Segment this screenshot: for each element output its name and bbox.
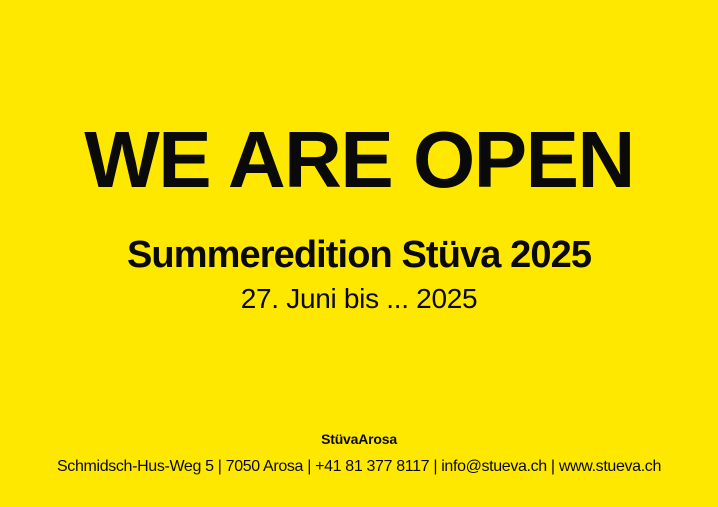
brand-name: StüvaArosa (0, 430, 718, 448)
contact-line: Schmidsch-Hus-Weg 5 | 7050 Arosa | +41 8… (0, 457, 718, 477)
date-line: 27. Juni bis ... 2025 (0, 282, 718, 316)
footer: StüvaArosa Schmidsch-Hus-Weg 5 | 7050 Ar… (0, 430, 718, 477)
poster-canvas: WE ARE OPEN Summeredition Stüva 2025 27.… (0, 0, 718, 507)
subtitle: Summeredition Stüva 2025 (0, 233, 718, 277)
headline: WE ARE OPEN (0, 117, 718, 203)
